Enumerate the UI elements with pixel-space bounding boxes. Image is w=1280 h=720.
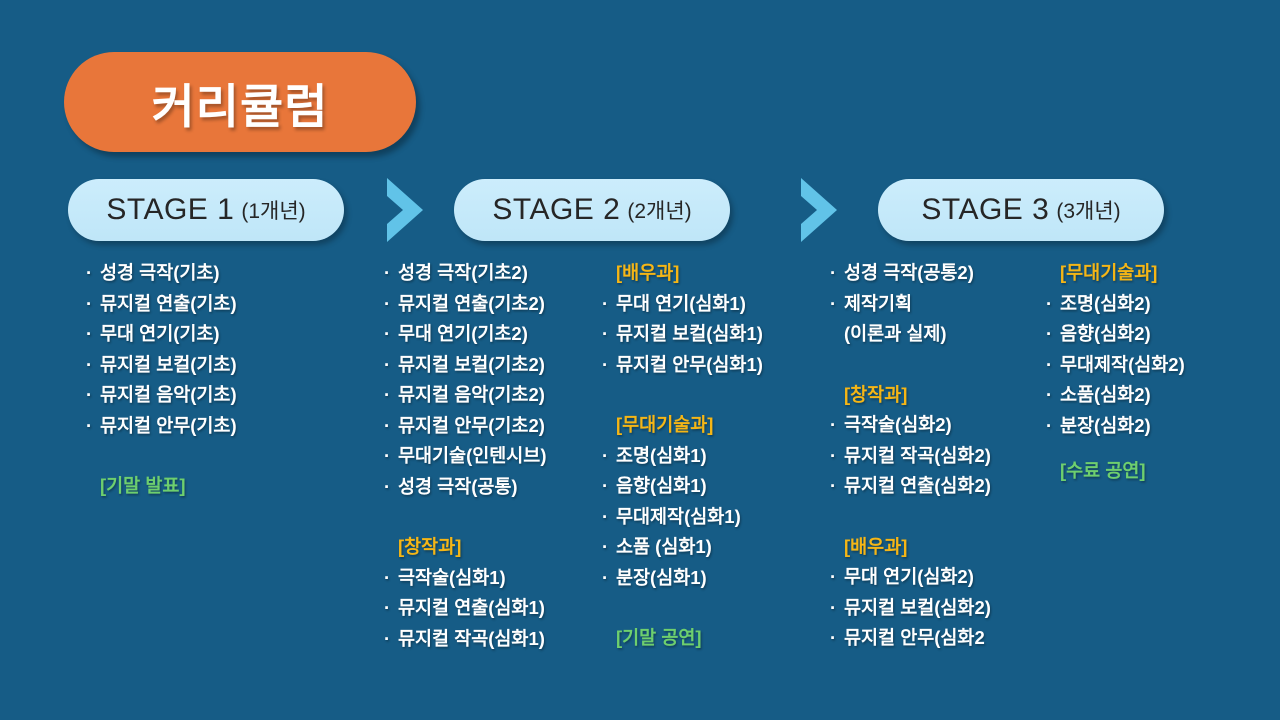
bullet-icon: ·	[830, 623, 844, 654]
course-item-label: 음향(심화2)	[1060, 319, 1151, 350]
course-column-stage-2-right: [배우과]·무대 연기(심화1)·뮤지컬 보컬(심화1)·뮤지컬 안무(심화1)…	[602, 258, 807, 654]
course-item-label: 뮤지컬 안무(심화1)	[616, 350, 763, 381]
bullet-icon: ·	[602, 532, 616, 563]
course-item-label: 뮤지컬 연출(심화1)	[398, 593, 545, 624]
spacer	[1046, 441, 1261, 456]
stage-1-label: STAGE 1	[106, 193, 234, 227]
bullet-icon: ·	[384, 411, 398, 442]
course-column-stage-3-right: [무대기술과]·조명(심화2)·음향(심화2)·무대제작(심화2)·소품(심화2…	[1046, 258, 1261, 487]
spacer	[86, 441, 356, 471]
bullet-icon: ·	[830, 562, 844, 593]
bullet-icon: ·	[602, 563, 616, 594]
bullet-icon: ·	[602, 502, 616, 533]
bullet-icon: ·	[86, 319, 100, 350]
bullet-icon: ·	[384, 380, 398, 411]
bullet-icon: ·	[830, 593, 844, 624]
course-item: ·극작술(심화2)	[830, 410, 1045, 441]
department-section-header: [무대기술과]	[1046, 258, 1261, 289]
course-item: ·뮤지컬 안무(기초)	[86, 411, 356, 442]
course-item-label: 뮤지컬 연출(기초2)	[398, 289, 545, 320]
bullet-icon: ·	[830, 410, 844, 441]
bullet-icon: ·	[384, 441, 398, 472]
page-title: 커리큘럼	[152, 68, 329, 137]
curriculum-title-pill: 커리큘럼	[64, 52, 416, 152]
bullet-icon: ·	[86, 350, 100, 381]
bullet-icon: ·	[384, 593, 398, 624]
course-item: ·성경 극작(공통)	[384, 472, 599, 503]
performance-milestone-label: [수료 공연]	[1046, 456, 1261, 487]
course-item-label: 뮤지컬 안무(심화2	[844, 623, 985, 654]
course-item-label: 무대 연기(심화2)	[844, 562, 974, 593]
course-item: ·뮤지컬 보컬(기초2)	[384, 350, 599, 381]
bullet-icon: ·	[384, 350, 398, 381]
stage-header-stage-1: STAGE 1 (1개년)	[68, 179, 344, 241]
course-item-label: 뮤지컬 안무(기초2)	[398, 411, 545, 442]
department-section-header: [배우과]	[602, 258, 807, 289]
bullet-icon: ·	[602, 289, 616, 320]
course-item-label: 조명(심화1)	[616, 441, 707, 472]
bullet-icon: ·	[384, 624, 398, 655]
department-section-header: [배우과]	[830, 532, 1045, 563]
course-item-label: 뮤지컬 보컬(기초2)	[398, 350, 545, 381]
course-item-label: 뮤지컬 연출(기초)	[100, 289, 237, 320]
bullet-icon: ·	[86, 289, 100, 320]
course-item: ·성경 극작(기초)	[86, 258, 356, 289]
course-item: ·뮤지컬 연출(심화1)	[384, 593, 599, 624]
course-item: ·극작술(심화1)	[384, 563, 599, 594]
course-item-label: 성경 극작(기초)	[100, 258, 220, 289]
course-item: ·뮤지컬 연출(기초2)	[384, 289, 599, 320]
course-column-stage-3-left: ·성경 극작(공통2)·제작기획·(이론과 실제)[창작과]·극작술(심화2)·…	[830, 258, 1045, 654]
course-item: ·소품(심화2)	[1046, 380, 1261, 411]
course-item-label: 성경 극작(기초2)	[398, 258, 528, 289]
course-item: ·뮤지컬 안무(기초2)	[384, 411, 599, 442]
course-item-label: 뮤지컬 작곡(심화1)	[398, 624, 545, 655]
course-item: ·무대기술(인텐시브)	[384, 441, 599, 472]
spacer	[602, 380, 807, 410]
course-item-label: 소품 (심화1)	[616, 532, 712, 563]
course-item: ·뮤지컬 보컬(기초)	[86, 350, 356, 381]
bullet-icon: ·	[1046, 319, 1060, 350]
bullet-icon: ·	[830, 441, 844, 472]
course-item: ·뮤지컬 음악(기초2)	[384, 380, 599, 411]
spacer	[830, 350, 1045, 380]
course-item: ·뮤지컬 안무(심화1)	[602, 350, 807, 381]
course-item-label: 뮤지컬 음악(기초)	[100, 380, 237, 411]
course-item-label: 무대기술(인텐시브)	[398, 441, 546, 472]
stage-3-label: STAGE 3	[921, 193, 1049, 227]
stage-3-duration: (3개년)	[1056, 195, 1120, 225]
course-item-label: 뮤지컬 보컬(기초)	[100, 350, 237, 381]
course-item-label: 뮤지컬 안무(기초)	[100, 411, 237, 442]
course-item-label: 뮤지컬 연출(심화2)	[844, 471, 991, 502]
course-item: ·뮤지컬 작곡(심화1)	[384, 624, 599, 655]
course-item-label: 무대 연기(기초2)	[398, 319, 528, 350]
course-item-label: 조명(심화2)	[1060, 289, 1151, 320]
bullet-icon: ·	[602, 471, 616, 502]
course-item: ·분장(심화2)	[1046, 411, 1261, 442]
chevron-right-icon	[798, 176, 840, 244]
course-item: ·무대 연기(기초2)	[384, 319, 599, 350]
course-item: ·뮤지컬 음악(기초)	[86, 380, 356, 411]
course-item: ·뮤지컬 연출(기초)	[86, 289, 356, 320]
bullet-icon: ·	[830, 471, 844, 502]
stage-header-stage-2: STAGE 2 (2개년)	[454, 179, 730, 241]
course-item: ·분장(심화1)	[602, 563, 807, 594]
chevron-right-icon	[384, 176, 426, 244]
course-item: ·음향(심화2)	[1046, 319, 1261, 350]
course-item-label: 무대 연기(기초)	[100, 319, 220, 350]
course-item: ·음향(심화1)	[602, 471, 807, 502]
spacer	[830, 502, 1045, 532]
course-item: ·조명(심화2)	[1046, 289, 1261, 320]
stage-1-duration: (1개년)	[241, 195, 305, 225]
course-item-label: 무대제작(심화1)	[616, 502, 741, 533]
course-item-label: 분장(심화1)	[616, 563, 707, 594]
course-item: ·소품 (심화1)	[602, 532, 807, 563]
course-item-continuation: ·(이론과 실제)	[830, 319, 1045, 350]
course-item-label: 제작기획	[844, 289, 912, 320]
bullet-icon: ·	[384, 472, 398, 503]
bullet-icon: ·	[602, 350, 616, 381]
bullet-icon: ·	[602, 319, 616, 350]
stage-2-duration: (2개년)	[627, 195, 691, 225]
course-item-label: 분장(심화2)	[1060, 411, 1151, 442]
course-item: ·뮤지컬 안무(심화2	[830, 623, 1045, 654]
course-item: ·제작기획	[830, 289, 1045, 320]
department-section-header: [창작과]	[830, 380, 1045, 411]
course-item: ·뮤지컬 연출(심화2)	[830, 471, 1045, 502]
course-column-stage-2-left: ·성경 극작(기초2)·뮤지컬 연출(기초2)·무대 연기(기초2)·뮤지컬 보…	[384, 258, 599, 654]
bullet-icon: ·	[86, 380, 100, 411]
bullet-icon: ·	[830, 289, 844, 320]
bullet-icon: ·	[384, 289, 398, 320]
performance-milestone-label: [기말 공연]	[602, 623, 807, 654]
bullet-icon: ·	[86, 258, 100, 289]
stage-2-label: STAGE 2	[492, 193, 620, 227]
bullet-icon: ·	[602, 441, 616, 472]
course-item: ·뮤지컬 작곡(심화2)	[830, 441, 1045, 472]
bullet-icon: ·	[1046, 350, 1060, 381]
bullet-icon: ·	[384, 319, 398, 350]
course-item-label: 극작술(심화1)	[398, 563, 506, 594]
course-column-stage-1: ·성경 극작(기초)·뮤지컬 연출(기초)·무대 연기(기초)·뮤지컬 보컬(기…	[86, 258, 356, 502]
course-item: ·무대제작(심화1)	[602, 502, 807, 533]
course-item-label: 뮤지컬 작곡(심화2)	[844, 441, 991, 472]
course-item-label: 소품(심화2)	[1060, 380, 1151, 411]
course-item: ·조명(심화1)	[602, 441, 807, 472]
course-item: ·무대 연기(심화1)	[602, 289, 807, 320]
course-item: ·성경 극작(기초2)	[384, 258, 599, 289]
bullet-icon: ·	[830, 258, 844, 289]
course-item-label: 무대제작(심화2)	[1060, 350, 1185, 381]
bullet-icon: ·	[1046, 411, 1060, 442]
bullet-icon: ·	[1046, 289, 1060, 320]
course-item-label: 성경 극작(공통2)	[844, 258, 974, 289]
course-item: ·무대 연기(심화2)	[830, 562, 1045, 593]
course-item-label: 뮤지컬 음악(기초2)	[398, 380, 545, 411]
course-item-label: 극작술(심화2)	[844, 410, 952, 441]
course-item-label: 무대 연기(심화1)	[616, 289, 746, 320]
course-item-label: 뮤지컬 보컬(심화1)	[616, 319, 763, 350]
course-item-label: (이론과 실제)	[844, 319, 947, 350]
bullet-icon: ·	[384, 258, 398, 289]
spacer	[384, 502, 599, 532]
course-item: ·성경 극작(공통2)	[830, 258, 1045, 289]
course-item-label: 뮤지컬 보컬(심화2)	[844, 593, 991, 624]
bullet-icon: ·	[384, 563, 398, 594]
bullet-icon: ·	[86, 411, 100, 442]
course-item-label: 음향(심화1)	[616, 471, 707, 502]
course-item: ·뮤지컬 보컬(심화2)	[830, 593, 1045, 624]
course-item-label: 성경 극작(공통)	[398, 472, 518, 503]
stage-header-stage-3: STAGE 3 (3개년)	[878, 179, 1164, 241]
course-item: ·무대 연기(기초)	[86, 319, 356, 350]
department-section-header: [무대기술과]	[602, 410, 807, 441]
performance-milestone-label: [기말 발표]	[86, 471, 356, 502]
course-item: ·뮤지컬 보컬(심화1)	[602, 319, 807, 350]
department-section-header: [창작과]	[384, 532, 599, 563]
spacer	[602, 593, 807, 623]
bullet-icon: ·	[1046, 380, 1060, 411]
course-item: ·무대제작(심화2)	[1046, 350, 1261, 381]
